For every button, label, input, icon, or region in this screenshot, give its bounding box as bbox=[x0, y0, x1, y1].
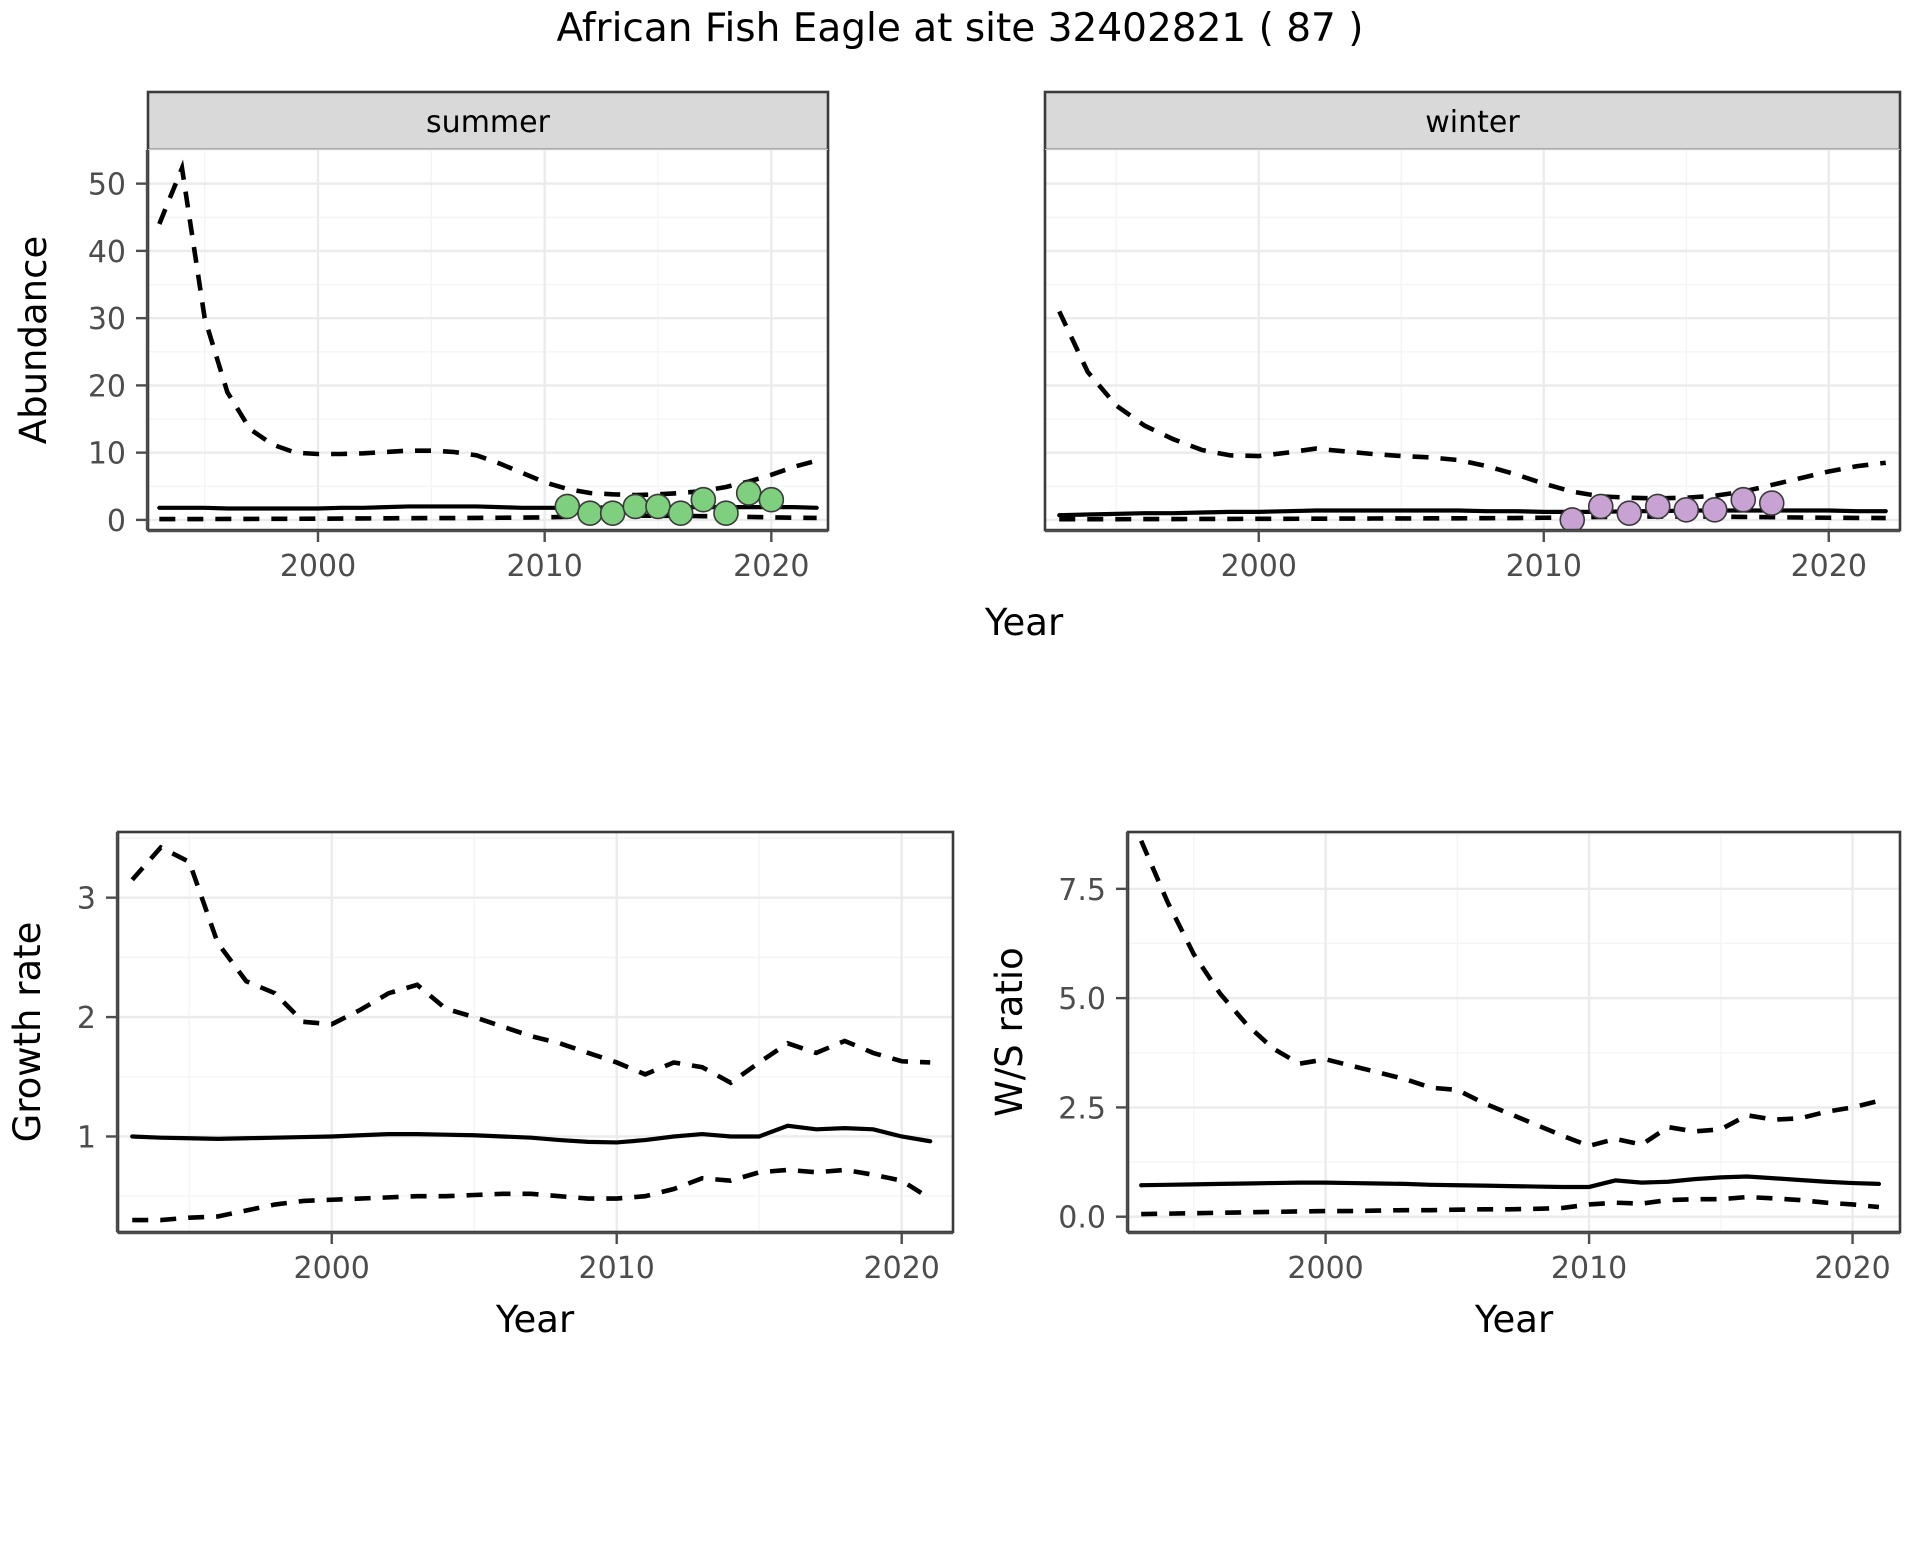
y-tick-label: 20 bbox=[88, 369, 126, 404]
data-point[interactable] bbox=[578, 501, 602, 525]
data-point[interactable] bbox=[1760, 491, 1784, 515]
ws-ratio-axis-title: W/S ratio bbox=[988, 947, 1031, 1117]
x-tick-label: 2010 bbox=[579, 1251, 655, 1286]
panel-background bbox=[148, 150, 828, 530]
x-tick-label: 2020 bbox=[1791, 549, 1867, 584]
x-tick-label: 2010 bbox=[1506, 549, 1582, 584]
data-point[interactable] bbox=[1617, 501, 1641, 525]
data-point[interactable] bbox=[691, 488, 715, 512]
y-tick-label: 2 bbox=[77, 1001, 96, 1036]
data-point[interactable] bbox=[623, 494, 647, 518]
panel-abundance-summer: 01020304050200020102020 bbox=[88, 150, 828, 584]
data-point[interactable] bbox=[1703, 498, 1727, 522]
x-tick-label: 2000 bbox=[280, 549, 356, 584]
y-tick-label: 3 bbox=[77, 882, 96, 917]
figure-canvas: summerwinter0102030405020002010202020002… bbox=[0, 0, 1920, 1560]
y-tick-label: 0.0 bbox=[1058, 1201, 1106, 1236]
data-point[interactable] bbox=[555, 494, 579, 518]
x-tick-label: 2000 bbox=[294, 1251, 370, 1286]
facet-strip-summer: summer bbox=[148, 92, 828, 150]
y-tick-label: 10 bbox=[88, 437, 126, 472]
data-point[interactable] bbox=[646, 494, 670, 518]
data-point[interactable] bbox=[601, 501, 625, 525]
x-tick-label: 2020 bbox=[864, 1251, 940, 1286]
data-point[interactable] bbox=[714, 501, 738, 525]
y-tick-label: 0 bbox=[107, 504, 126, 539]
facet-strip-label: winter bbox=[1425, 105, 1520, 140]
facet-strip-winter: winter bbox=[1045, 92, 1900, 150]
y-tick-label: 40 bbox=[88, 235, 126, 270]
x-tick-label: 2000 bbox=[1287, 1251, 1363, 1286]
abundance-x-axis-title: Year bbox=[984, 601, 1064, 644]
chart-page: African Fish Eagle at site 32402821 ( 87… bbox=[0, 0, 1920, 1560]
panel-abundance-winter: 200020102020 bbox=[1045, 150, 1900, 584]
y-tick-label: 50 bbox=[88, 168, 126, 203]
growth-rate-axis-title: Growth rate bbox=[6, 922, 49, 1143]
x-tick-label: 2020 bbox=[733, 549, 809, 584]
y-tick-label: 7.5 bbox=[1058, 873, 1106, 908]
data-point[interactable] bbox=[1646, 494, 1670, 518]
abundance-axis-title: Abundance bbox=[12, 236, 55, 444]
data-point[interactable] bbox=[737, 481, 761, 505]
x-tick-label: 2010 bbox=[506, 549, 582, 584]
x-tick-label: 2010 bbox=[1551, 1251, 1627, 1286]
data-point[interactable] bbox=[1731, 488, 1755, 512]
y-tick-label: 5.0 bbox=[1058, 982, 1106, 1017]
data-point[interactable] bbox=[1589, 494, 1613, 518]
data-point[interactable] bbox=[1560, 508, 1584, 532]
x-tick-label: 2000 bbox=[1221, 549, 1297, 584]
data-point[interactable] bbox=[1674, 498, 1698, 522]
y-tick-label: 30 bbox=[88, 302, 126, 337]
facet-strip-label: summer bbox=[426, 105, 551, 140]
panel-ws-ratio: 0.02.55.07.5200020102020 bbox=[1058, 832, 1900, 1286]
panel-growth-rate: 123200020102020 bbox=[77, 832, 953, 1286]
panel-background bbox=[1045, 150, 1900, 530]
page-title: African Fish Eagle at site 32402821 ( 87… bbox=[0, 6, 1920, 51]
data-point[interactable] bbox=[669, 501, 693, 525]
y-tick-label: 2.5 bbox=[1058, 1091, 1106, 1126]
growth-x-axis-title: Year bbox=[495, 1298, 575, 1341]
y-tick-label: 1 bbox=[77, 1120, 96, 1155]
data-point[interactable] bbox=[759, 488, 783, 512]
ws-x-axis-title: Year bbox=[1474, 1298, 1554, 1341]
panel-background bbox=[1128, 832, 1900, 1232]
x-tick-label: 2020 bbox=[1814, 1251, 1890, 1286]
